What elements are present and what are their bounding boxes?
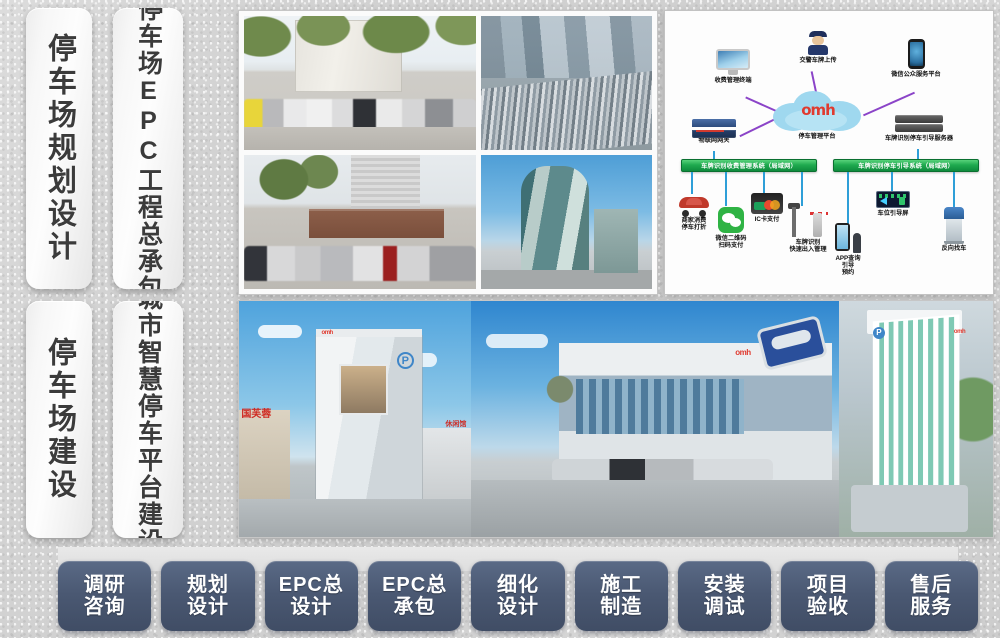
photo-grid-panel	[238, 10, 658, 295]
wechat-icon	[718, 207, 744, 233]
led-screen-icon	[876, 191, 910, 208]
diagram-node-app-query-guide[interactable]: APP查询 引导 预约	[823, 223, 873, 276]
process-step-epc-overall-design[interactable]: EPC总 设计	[265, 561, 358, 631]
node-label: 收费管理终端	[695, 77, 771, 84]
sidebar-card-parking-planning-design[interactable]: 停车场规划设计	[26, 8, 92, 289]
slide-canvas: 停车场规划设计 停车场EPC工程总承包 停车场建设 城市智慧停车平台建设	[0, 0, 1000, 638]
banner-label: 车牌识别收费管理系统（局域网）	[701, 161, 797, 170]
phone-icon	[908, 39, 925, 69]
render-billboard	[339, 364, 388, 415]
process-step-install-debug[interactable]: 安装 调试	[678, 561, 771, 631]
process-step-construction-manufacture[interactable]: 施工 制造	[575, 561, 668, 631]
diagram-banner-toll-lan-system[interactable]: 车牌识别收费管理系统（局域网）	[681, 159, 817, 172]
render-garage-tower-billboard: 国芙蓉 休闲馆 omh P	[239, 301, 471, 537]
app-phone-icon	[835, 223, 861, 253]
render-tree	[537, 372, 583, 426]
node-label: 车牌识别停车引导服务器	[873, 135, 965, 142]
link-banner-merchant	[691, 172, 693, 194]
brand-logo-text: omh	[954, 329, 965, 335]
link-banner-gate	[801, 172, 803, 206]
diagram-node-led-guide-screen[interactable]: 车位引导屏	[873, 191, 913, 217]
node-label: 反向找车	[933, 245, 975, 252]
network-diagram-panel: 收费管理终端 交警车牌上传 微信公众服务平台 omh	[664, 10, 994, 295]
parking-p-icon: P	[873, 327, 885, 339]
switch-icon	[692, 119, 736, 135]
banner-label: 车牌识别停车引导系统（局域网）	[858, 161, 954, 170]
link-banner-iccard	[763, 172, 765, 194]
render-wide-garage-carsign: omh	[471, 301, 839, 537]
node-label: 物联网网关	[681, 137, 747, 144]
photo-tree	[249, 155, 347, 214]
node-label: 微信二维码 扫码支付	[705, 235, 757, 249]
render-plaza	[851, 485, 968, 532]
photo-aerial-parking-lot	[481, 16, 652, 150]
photo-lot-with-brick-house	[244, 155, 476, 289]
diagram-node-toll-terminal[interactable]: 收费管理终端	[695, 49, 771, 84]
process-step-bar: 调研 咨询 规划 设计 EPC总 设计 EPC总 承包 细化 设计 施工 制造 …	[58, 560, 978, 632]
render-aerial-white-tower: P omh	[839, 301, 993, 537]
render-images-panel: 国芙蓉 休闲馆 omh P omh	[238, 300, 994, 538]
sidebar-card-label: 城市智慧停车平台建设	[136, 301, 161, 538]
diagram-node-wechat-platform[interactable]: 微信公众服务平台	[875, 39, 957, 78]
diagram-node-iot-gateway[interactable]: 物联网网关	[681, 119, 747, 144]
render-garage-tower: omh P	[316, 336, 423, 506]
server-icon	[895, 115, 943, 133]
brand-logo-text: omh	[735, 348, 750, 357]
process-step-detailed-design[interactable]: 细化 设计	[471, 561, 564, 631]
render-greenery	[953, 362, 993, 456]
node-label: 车位引导屏	[873, 210, 913, 217]
node-label: 交警车牌上传	[783, 57, 853, 64]
render-road	[239, 499, 471, 537]
process-step-survey-consult[interactable]: 调研 咨询	[58, 561, 151, 631]
process-step-planning-design[interactable]: 规划 设计	[161, 561, 254, 631]
policeman-icon	[808, 31, 828, 55]
photo-ground	[244, 127, 476, 150]
render-cloud	[258, 325, 302, 338]
photo-street-base	[481, 270, 652, 289]
render-road	[471, 480, 839, 537]
render-glass-facade	[576, 379, 745, 435]
brand-logo-text: omh	[322, 330, 333, 336]
node-label: APP查询 引导 预约	[823, 255, 873, 276]
cloud-label: 停车管理平台	[769, 133, 865, 140]
photo-street-parking-lot	[244, 16, 476, 150]
link-banner-wechat	[725, 172, 727, 206]
parking-p-icon: P	[397, 352, 414, 369]
render-cloud	[486, 334, 548, 348]
sidebar-card-parking-epc-contract[interactable]: 停车场EPC工程总承包	[113, 8, 183, 289]
render-right-building	[420, 428, 471, 504]
render-garage-tower	[875, 317, 958, 503]
process-step-after-sales-service[interactable]: 售后 服务	[885, 561, 978, 631]
diagram-node-guide-server[interactable]: 车牌识别停车引导服务器	[873, 115, 965, 142]
sidebar-card-smart-city-platform[interactable]: 城市智慧停车平台建设	[113, 301, 183, 538]
barrier-gate-icon	[788, 203, 828, 237]
link-banner-kiosk	[953, 172, 955, 210]
photo-cars-row	[244, 99, 476, 128]
process-step-project-acceptance[interactable]: 项目 验收	[781, 561, 874, 631]
brand-logo-text: omh	[791, 101, 845, 119]
link-wechat-cloud	[863, 92, 915, 117]
ic-card-icon	[751, 193, 783, 214]
sidebar-card-label: 停车场规划设计	[45, 33, 74, 264]
sidebar-card-label: 停车场建设	[45, 337, 74, 502]
cloud-icon: omh	[773, 89, 861, 131]
link-banner-app	[847, 172, 849, 226]
render-sign-text: 国芙蓉	[241, 405, 271, 420]
sidebar-card-label: 停车场EPC工程总承包	[136, 8, 161, 289]
render-parked-cars	[552, 459, 773, 480]
process-step-epc-general-contract[interactable]: EPC总 承包	[368, 561, 461, 631]
diagram-banner-guide-lan-system[interactable]: 车牌识别停车引导系统（局域网）	[833, 159, 979, 172]
diagram-node-reverse-car-find[interactable]: 反向找车	[933, 207, 975, 252]
render-left-building	[239, 410, 290, 504]
node-label: 微信公众服务平台	[875, 71, 957, 78]
monitor-icon	[716, 49, 750, 75]
photo-cars-row	[244, 246, 476, 281]
diagram-node-cloud-platform[interactable]: omh 停车管理平台	[769, 89, 865, 140]
diagram-node-police-upload[interactable]: 交警车牌上传	[783, 31, 853, 64]
kiosk-icon	[944, 207, 964, 243]
diagram-canvas: 收费管理终端 交警车牌上传 微信公众服务平台 omh	[665, 11, 993, 294]
sidebar-card-parking-construction[interactable]: 停车场建设	[26, 301, 92, 538]
photo-glass-office-tower	[481, 155, 652, 289]
render-sign-text: 休闲馆	[445, 419, 466, 429]
